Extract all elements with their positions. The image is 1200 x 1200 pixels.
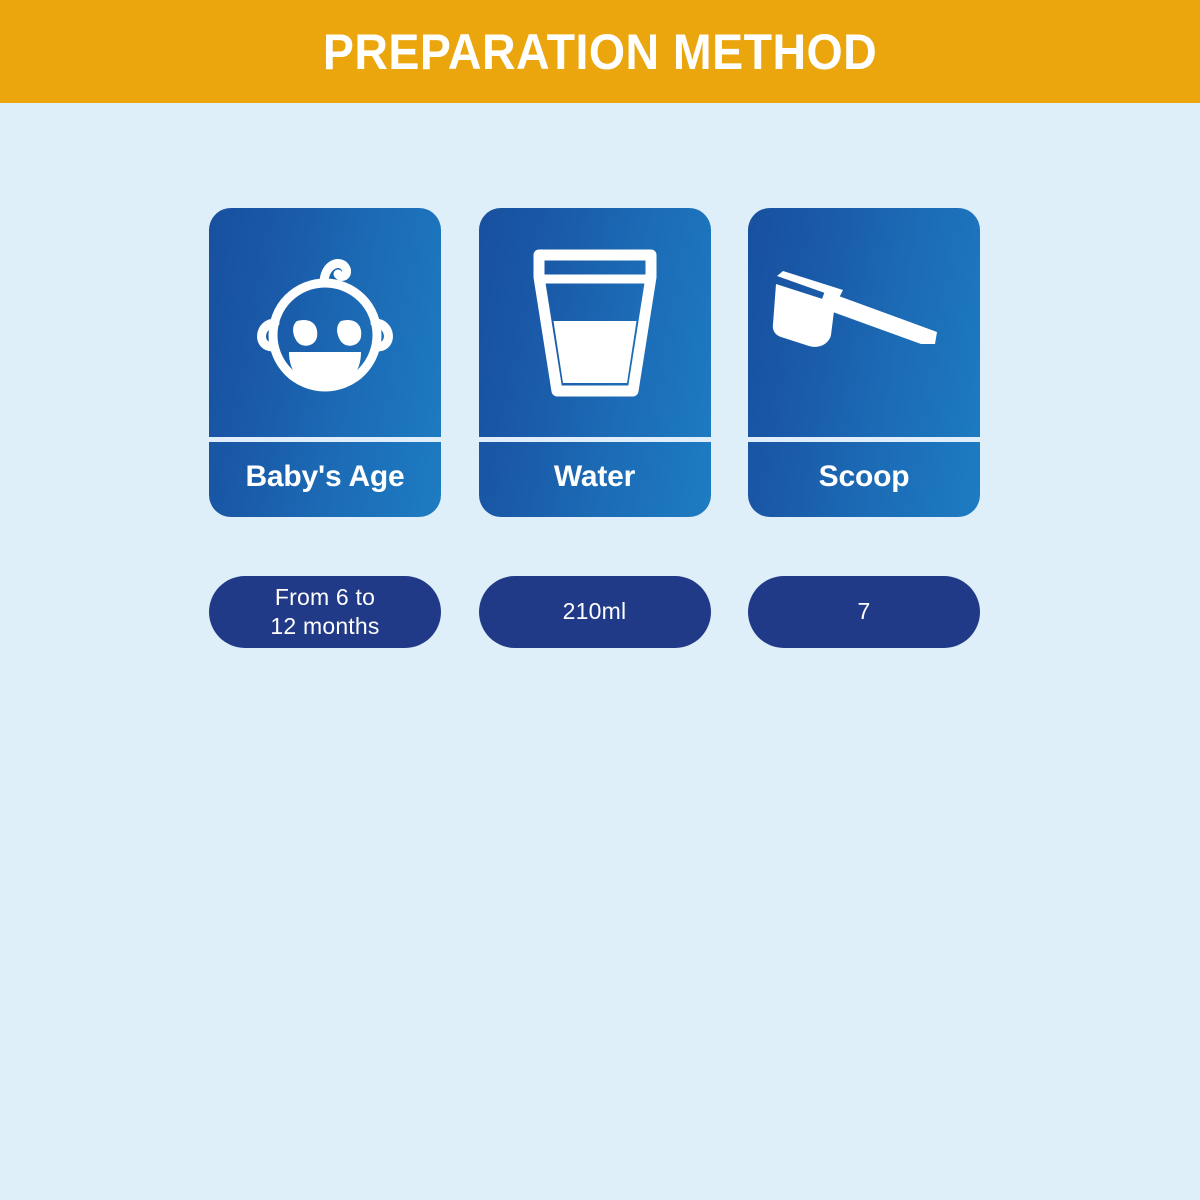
page-title: PREPARATION METHOD — [323, 23, 877, 81]
measuring-scoop-icon — [769, 258, 959, 388]
value-text-babys-age: From 6 to 12 months — [270, 583, 379, 642]
tile-babys-age[interactable]: Baby's Age — [209, 208, 441, 517]
tile-water[interactable]: Water — [479, 208, 711, 517]
tile-icon-area-babys-age — [209, 208, 441, 437]
tile-label-area-scoop: Scoop — [748, 437, 980, 517]
values-row: From 6 to 12 months 210ml 7 — [209, 576, 980, 648]
tile-label-scoop: Scoop — [819, 460, 910, 494]
value-pill-water[interactable]: 210ml — [479, 576, 711, 648]
tiles-row: Baby's Age Water — [209, 208, 980, 517]
value-text-water: 210ml — [563, 597, 627, 626]
tile-icon-area-water — [479, 208, 711, 437]
tile-divider — [479, 437, 711, 442]
water-glass-icon — [521, 243, 669, 403]
tile-label-babys-age: Baby's Age — [245, 460, 404, 494]
header-band: PREPARATION METHOD — [0, 0, 1200, 103]
tile-scoop[interactable]: Scoop — [748, 208, 980, 517]
tile-icon-area-scoop — [748, 208, 980, 437]
value-pill-scoop[interactable]: 7 — [748, 576, 980, 648]
tile-divider — [748, 437, 980, 442]
tile-label-area-babys-age: Baby's Age — [209, 437, 441, 517]
value-pill-babys-age[interactable]: From 6 to 12 months — [209, 576, 441, 648]
tile-divider — [209, 437, 441, 442]
tile-label-area-water: Water — [479, 437, 711, 517]
tile-label-water: Water — [554, 460, 635, 494]
baby-face-icon — [245, 243, 405, 403]
preparation-table: Baby's Age Water — [209, 208, 980, 648]
value-text-scoop: 7 — [858, 597, 871, 626]
